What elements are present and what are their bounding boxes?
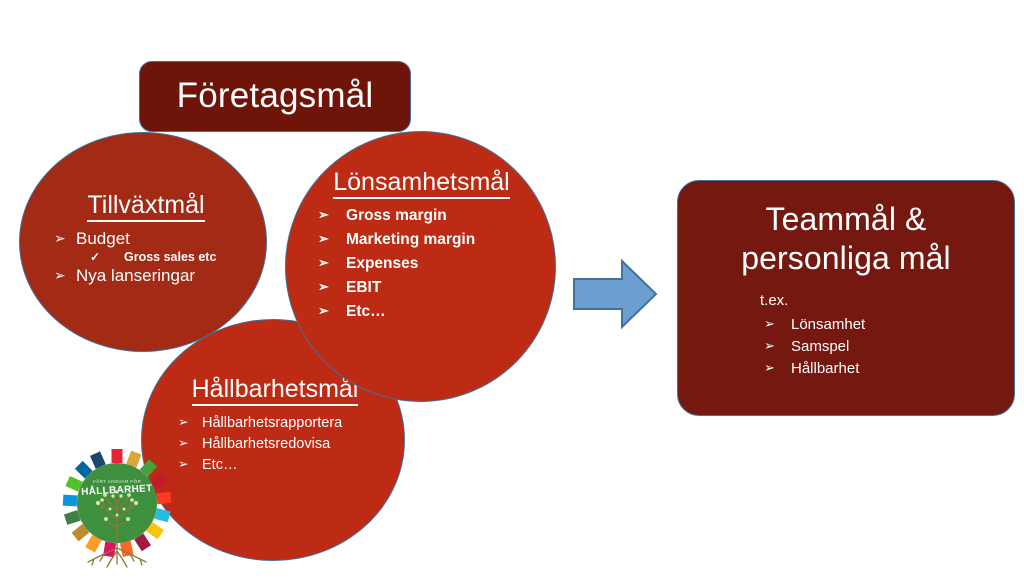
arrow-bullet-icon: ➢ [178, 437, 202, 450]
arrow-bullet-icon: ➢ [318, 232, 346, 245]
arrow-bullet-icon: ➢ [764, 361, 791, 374]
list-item: ➢ EBIT [318, 279, 555, 297]
tillvaxtmal-sub-bullet-list: ✓ Gross sales etc [54, 250, 266, 264]
slide-canvas: Tillväxtmål ➢ Budget ✓ Gross sales etc ➢… [0, 0, 1024, 580]
list-item: ➢ Nya lanseringar [54, 266, 266, 286]
right-arrow-icon [572, 258, 658, 330]
bullet-label: Marketing margin [346, 231, 475, 249]
list-item: ➢ Budget [54, 229, 266, 249]
bullet-label: Hållbarhetsredovisa [202, 436, 330, 452]
list-item: ➢ Gross margin [318, 207, 555, 225]
team-goals-bullet-list: ➢ Lönsamhet ➢ Samspel ➢ Hållbarhet [678, 316, 1014, 377]
bullet-label: Lönsamhet [791, 316, 865, 333]
list-item: ➢ Hållbarhet [764, 360, 1014, 377]
bullet-label: Etc… [346, 303, 386, 321]
list-item: ➢ Etc… [178, 457, 404, 473]
bullet-label: Hållbarhetsrapportera [202, 415, 342, 431]
circle-lonsamhetsmal[interactable]: Lönsamhetsmål ➢ Gross margin ➢ Marketing… [285, 131, 556, 402]
arrow-bullet-icon: ➢ [318, 280, 346, 293]
page-title: Företagsmål [177, 78, 374, 115]
title-box-foretagsmal[interactable]: Företagsmål [139, 61, 411, 132]
arrow-bullet-icon: ➢ [764, 339, 791, 352]
list-item: ➢ Hållbarhetsrapportera [178, 415, 404, 431]
bullet-label: Hållbarhet [791, 360, 859, 377]
arrow-bullet-icon: ➢ [318, 304, 346, 317]
list-item: ✓ Gross sales etc [90, 250, 266, 264]
team-goals-example-label: t.ex. [678, 278, 1014, 316]
circle-lonsamhetsmal-heading: Lönsamhetsmål [286, 168, 555, 197]
bullet-label: Samspel [791, 338, 849, 355]
team-goals-heading-line2: personliga mål [678, 239, 1014, 278]
circle-tillvaxtmal-heading: Tillväxtmål [20, 191, 266, 220]
team-goals-heading: Teammål & personliga mål [678, 181, 1014, 278]
arrow-bullet-icon: ➢ [318, 208, 346, 221]
arrow-bullet-icon: ➢ [54, 268, 76, 282]
bullet-label: EBIT [346, 279, 381, 297]
bullet-label: Gross margin [346, 207, 447, 225]
tillvaxtmal-bullet-list: ➢ Budget ✓ Gross sales etc ➢ Nya lanseri… [20, 229, 266, 286]
list-item: ➢ Hållbarhetsredovisa [178, 436, 404, 452]
arrow-bullet-icon: ➢ [54, 231, 76, 245]
bullet-label: Gross sales etc [124, 250, 216, 264]
arrow-bullet-icon: ➢ [764, 317, 791, 330]
arrow-bullet-icon: ➢ [178, 458, 202, 471]
bullet-label: Budget [76, 229, 130, 249]
list-item: ➢ Etc… [318, 303, 555, 321]
list-item: ➢ Marketing margin [318, 231, 555, 249]
team-goals-box[interactable]: Teammål & personliga mål t.ex. ➢ Lönsamh… [677, 180, 1015, 416]
check-bullet-icon: ✓ [90, 251, 124, 263]
circle-lonsamhetsmal-content: Lönsamhetsmål ➢ Gross margin ➢ Marketing… [286, 168, 555, 327]
lonsamhetsmal-bullet-list: ➢ Gross margin ➢ Marketing margin ➢ Expe… [286, 207, 555, 321]
circle-hallbarhetsmal-content: Hållbarhetsmål ➢ Hållbarhetsrapportera ➢… [142, 375, 404, 478]
arrow-bullet-icon: ➢ [178, 416, 202, 429]
team-goals-heading-line1: Teammål & [678, 200, 1014, 239]
bullet-label: Nya lanseringar [76, 266, 195, 286]
circle-tillvaxtmal[interactable]: Tillväxtmål ➢ Budget ✓ Gross sales etc ➢… [19, 132, 267, 352]
list-item: ➢ Expenses [318, 255, 555, 273]
bullet-label: Etc… [202, 457, 237, 473]
list-item: ➢ Samspel [764, 338, 1014, 355]
hallbarhet-sdg-tree-logo: VÅRT ANSVAR FÖR HÅLLBARHET [58, 447, 176, 575]
arrow-bullet-icon: ➢ [318, 256, 346, 269]
list-item: ➢ Lönsamhet [764, 316, 1014, 333]
bullet-label: Expenses [346, 255, 418, 273]
hallbarhetsmal-bullet-list: ➢ Hållbarhetsrapportera ➢ Hållbarhetsred… [142, 415, 404, 473]
circle-tillvaxtmal-content: Tillväxtmål ➢ Budget ✓ Gross sales etc ➢… [20, 191, 266, 287]
